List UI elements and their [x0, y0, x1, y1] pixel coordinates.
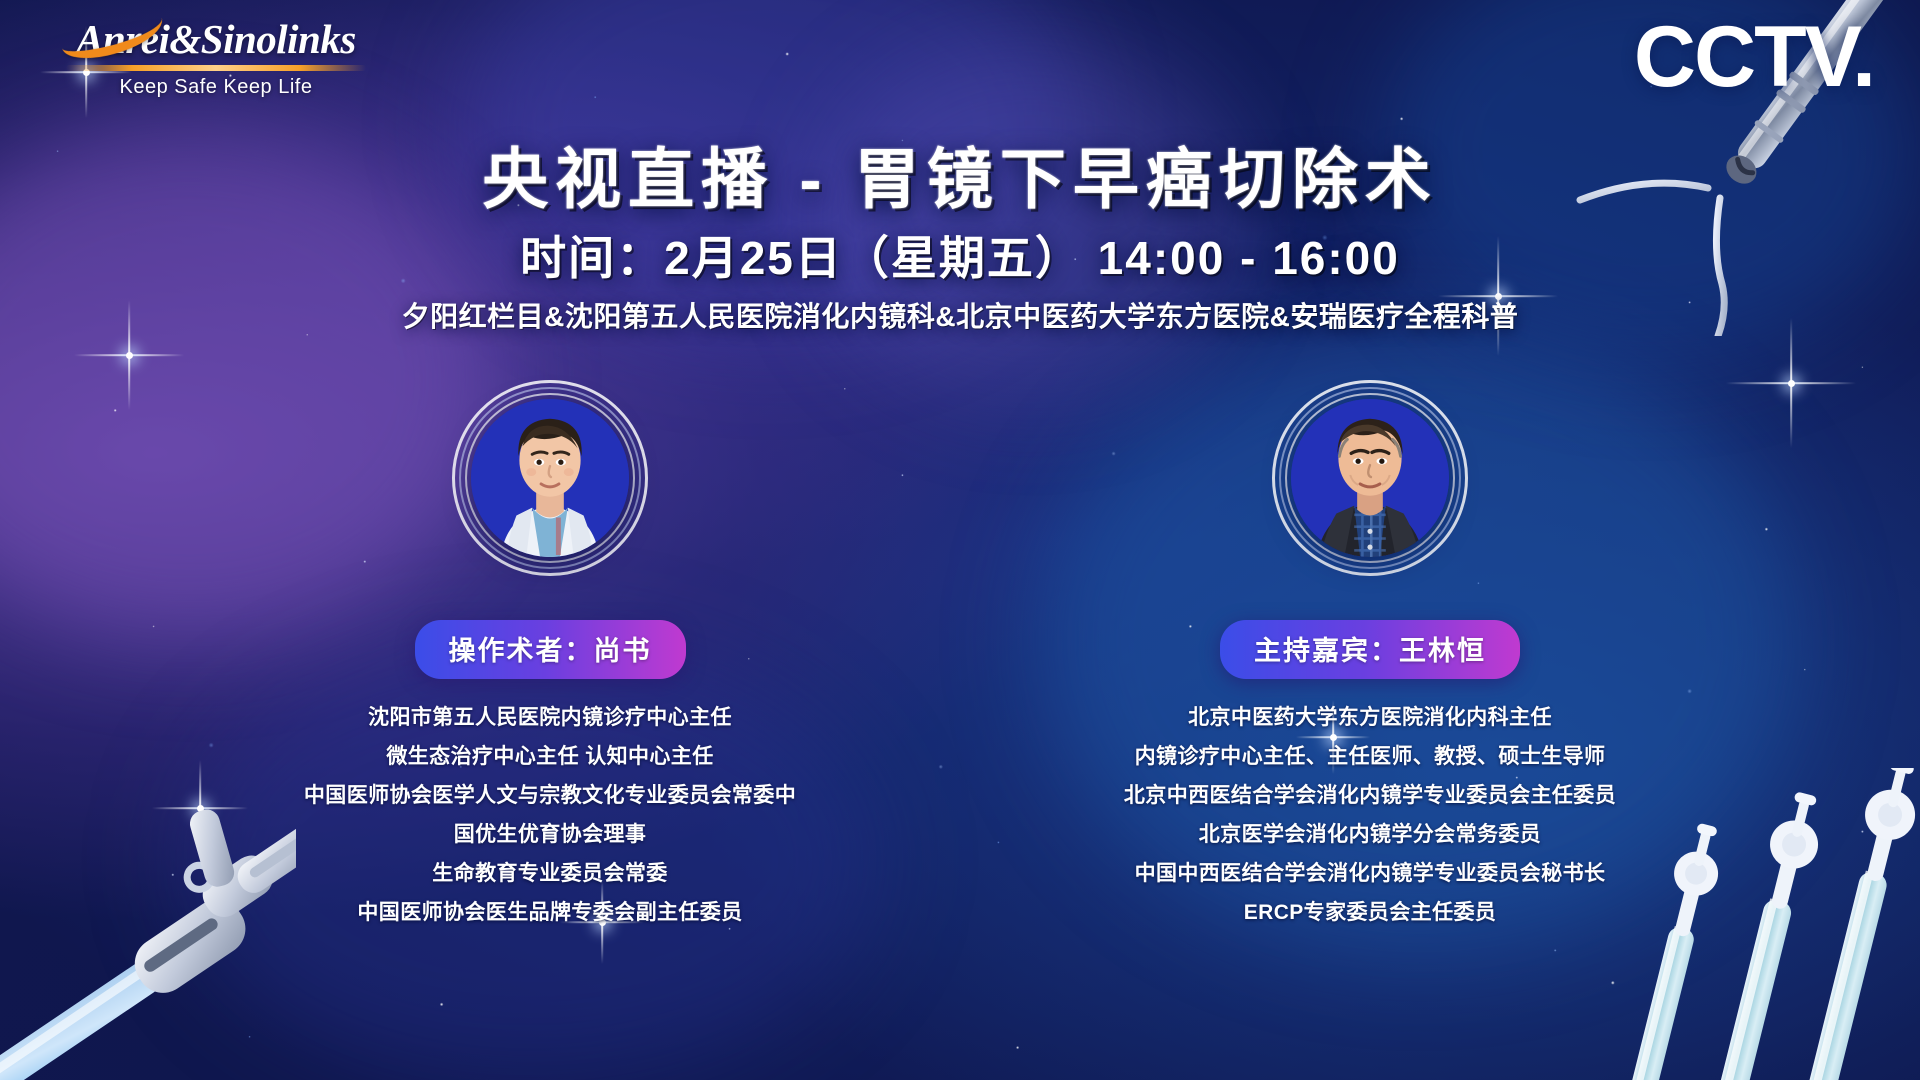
credential-line: 沈阳市第五人民医院内镜诊疗中心主任	[304, 701, 796, 731]
credential-line: 中国中西医结合学会消化内镜学专业委员会秘书长	[1124, 857, 1616, 887]
credential-line: 生命教育专业委员会常委	[304, 857, 796, 887]
credential-line: 中国医师协会医学人文与宗教文化专业委员会常委中	[304, 779, 796, 809]
speakers-section: 操作术者：尚书 沈阳市第五人民医院内镜诊疗中心主任 微生态治疗中心主任 认知中心…	[0, 380, 1920, 940]
speaker-card-host: 主持嘉宾：王林恒 北京中医药大学东方医院消化内科主任 内镜诊疗中心主任、主任医师…	[1020, 380, 1720, 940]
broadcast-time: 时间：2月25日（星期五） 14:00 - 16:00	[0, 222, 1920, 288]
avatar	[1272, 380, 1468, 576]
anrei-sinolinks-logo: Anrei&Sinolinks Keep Safe Keep Life	[66, 18, 366, 99]
cctv-logo: CCTV.	[1634, 14, 1874, 100]
speaker-credentials: 沈阳市第五人民医院内镜诊疗中心主任 微生态治疗中心主任 认知中心主任 中国医师协…	[304, 701, 796, 926]
credential-line: 微生态治疗中心主任 认知中心主任	[304, 740, 796, 770]
brand-divider	[66, 65, 366, 71]
speaker-card-operator: 操作术者：尚书 沈阳市第五人民医院内镜诊疗中心主任 微生态治疗中心主任 认知中心…	[200, 380, 900, 940]
avatar-photo-operator	[471, 399, 629, 557]
credential-line: ERCP专家委员会主任委员	[1124, 896, 1616, 926]
organizers-line: 夕阳红栏目&沈阳第五人民医院消化内镜科&北京中医药大学东方医院&安瑞医疗全程科普	[0, 295, 1920, 335]
avatar	[452, 380, 648, 576]
speaker-role-badge: 操作术者：尚书	[415, 620, 686, 679]
speaker-role-badge: 主持嘉宾：王林恒	[1220, 620, 1520, 679]
credential-line: 北京医学会消化内镜学分会常务委员	[1124, 818, 1616, 848]
credential-line: 内镜诊疗中心主任、主任医师、教授、硕士生导师	[1124, 740, 1616, 770]
page-title: 央视直播 - 胃镜下早癌切除术	[0, 126, 1920, 222]
anrei-wordmark: Anrei&Sinolinks	[66, 18, 366, 61]
anrei-tagline: Keep Safe Keep Life	[66, 76, 366, 99]
credential-line: 北京中西医结合学会消化内镜学专业委员会主任委员	[1124, 779, 1616, 809]
live-broadcast-poster: Anrei&Sinolinks Keep Safe Keep Life CCTV…	[0, 0, 1920, 1080]
avatar-photo-host	[1291, 399, 1449, 557]
speaker-credentials: 北京中医药大学东方医院消化内科主任 内镜诊疗中心主任、主任医师、教授、硕士生导师…	[1124, 701, 1616, 926]
credential-line: 北京中医药大学东方医院消化内科主任	[1124, 701, 1616, 731]
credential-line: 国优生优育协会理事	[304, 818, 796, 848]
credential-line: 中国医师协会医生品牌专委会副主任委员	[304, 896, 796, 926]
